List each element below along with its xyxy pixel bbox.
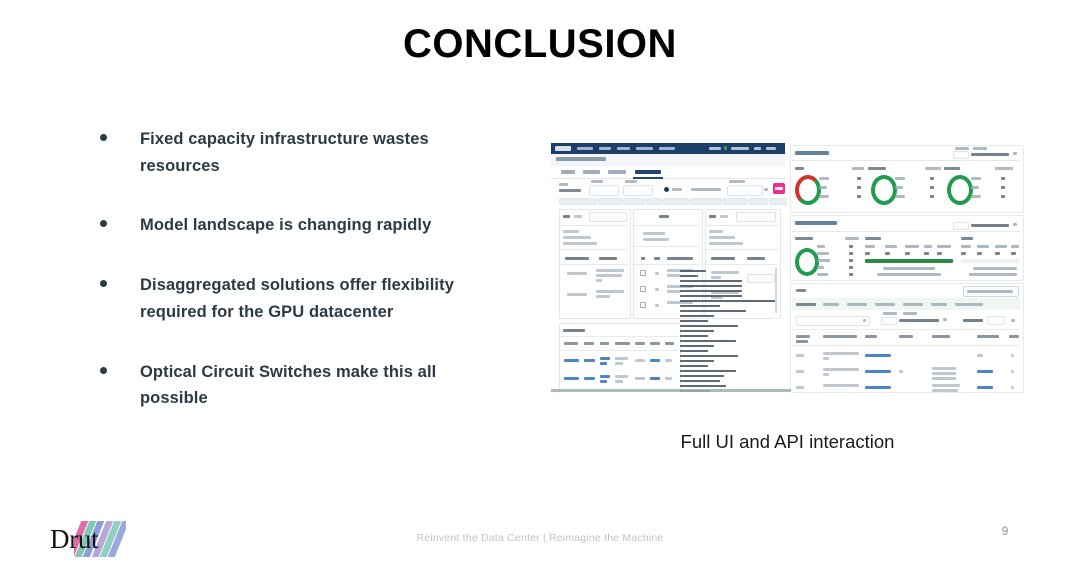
cell-text [615, 375, 628, 378]
cell-text [932, 367, 956, 370]
cell-text [932, 389, 958, 392]
row-checkbox[interactable] [640, 286, 646, 292]
usage-caption [969, 273, 1017, 276]
cell-text [596, 279, 602, 282]
screenshot-caption: Full UI and API interaction [551, 431, 1024, 453]
product-screenshot-collage [551, 143, 1024, 393]
cell-text [665, 359, 672, 362]
filter-chip[interactable] [723, 198, 747, 205]
cell-text [615, 362, 623, 365]
cell-text [655, 304, 659, 307]
date-range-label [729, 180, 745, 183]
cell-text [596, 295, 610, 298]
select-field[interactable] [589, 185, 619, 196]
cell-link[interactable] [600, 362, 607, 365]
legend-count [849, 252, 853, 255]
filter-chip[interactable] [623, 198, 645, 205]
nav-menu-item[interactable] [636, 147, 653, 150]
bullet-text: Model landscape is changing rapidly [140, 212, 431, 239]
refresh-icon[interactable] [1013, 152, 1017, 155]
legend-critical [895, 186, 903, 189]
legend-healthy-count [930, 177, 934, 180]
gauge-group-label [795, 237, 813, 240]
legend-healthy-count [1001, 177, 1005, 180]
resource-state-gauge [795, 248, 819, 276]
table-title [563, 329, 585, 332]
slide-canvas: CONCLUSION Fixed capacity infrastructure… [0, 0, 1080, 568]
time-label [973, 147, 987, 150]
computes-gauge [947, 175, 973, 205]
timezone-select[interactable] [953, 222, 969, 230]
cell-link[interactable] [865, 370, 891, 373]
tab-hybrid[interactable] [955, 303, 983, 306]
divider [706, 264, 778, 265]
col-header [641, 257, 645, 260]
col-header [565, 257, 589, 260]
app-logo-icon [555, 146, 571, 151]
date-range-field[interactable] [727, 185, 763, 196]
refresh-icon[interactable] [1013, 223, 1017, 226]
card-label [709, 215, 716, 218]
cell-text [567, 272, 587, 275]
timezone-select[interactable] [953, 151, 969, 159]
divider [634, 246, 700, 247]
metric-value [937, 252, 942, 255]
timestamp-value [971, 153, 1009, 156]
card-row-text [643, 238, 669, 241]
tab-overview[interactable] [561, 170, 575, 174]
gauge-group-total [995, 167, 1013, 170]
bullet-item: Optical Circuit Switches make this all p… [100, 359, 500, 412]
filter-chip-row [559, 198, 785, 205]
tab-fpga[interactable] [875, 303, 895, 306]
card-search-input[interactable] [589, 212, 627, 222]
tab-network[interactable] [847, 303, 867, 306]
divider [792, 231, 1020, 232]
cell-link[interactable] [564, 377, 579, 380]
col-header[interactable] [564, 342, 578, 345]
cell-text [796, 370, 804, 373]
legend-warning [819, 195, 829, 198]
cell-text [932, 384, 960, 387]
gpu-group-label [961, 237, 973, 240]
timezone-label [883, 312, 897, 315]
legend-critical-count [1001, 186, 1005, 189]
card-label [659, 215, 669, 218]
nav-account-icon[interactable] [766, 147, 776, 150]
legend-healthy-count [857, 177, 861, 180]
col-header [667, 257, 693, 260]
bullet-text: Optical Circuit Switches make this all p… [140, 359, 500, 412]
cell-text [977, 354, 983, 357]
col-header[interactable] [600, 342, 609, 345]
logo-wordmark: Drut [50, 524, 98, 555]
cell-link[interactable] [584, 359, 595, 362]
cell-text [932, 377, 956, 380]
card-select[interactable] [720, 215, 728, 218]
cell-text [1011, 386, 1014, 389]
nav-settings-icon[interactable] [754, 147, 761, 150]
bullet-dot-icon [100, 220, 107, 227]
col-header-make[interactable] [865, 335, 877, 338]
divider [634, 264, 700, 265]
nav-user-item[interactable] [731, 147, 749, 150]
bullet-text: Fixed capacity infrastructure wastes res… [140, 126, 500, 179]
rows-per-page-select[interactable] [987, 316, 1005, 325]
select-label [625, 180, 637, 183]
cell-link[interactable] [584, 377, 595, 380]
bullet-dot-icon [100, 280, 107, 287]
legend-item [817, 273, 828, 276]
cell-text [667, 290, 681, 293]
table-search-input[interactable] [796, 316, 870, 326]
bullet-list: Fixed capacity infrastructure wastes res… [100, 126, 500, 438]
tab-ports[interactable] [931, 303, 947, 306]
legend-critical [819, 186, 827, 189]
cell-text [635, 359, 645, 362]
legend-item [817, 266, 824, 269]
col-header[interactable] [584, 342, 594, 345]
col-header-resource-2[interactable] [796, 340, 808, 343]
cell-text [823, 384, 859, 387]
cell-text [567, 293, 587, 296]
bullet-text: Disaggregated solutions offer flexibilit… [140, 272, 500, 325]
legend-healthy [971, 177, 981, 180]
bullet-item: Disaggregated solutions offer flexibilit… [100, 272, 500, 325]
usage-caption [973, 267, 1017, 270]
col-header-count[interactable] [1009, 335, 1019, 338]
divider [560, 225, 628, 226]
refresh-icon[interactable] [764, 188, 768, 191]
card-row-text [709, 236, 735, 239]
metric-value [865, 252, 870, 255]
col-header[interactable] [665, 342, 674, 345]
tab-gpus[interactable] [823, 303, 839, 306]
cell-text [1011, 370, 1014, 373]
select-field[interactable] [623, 185, 653, 196]
col-header[interactable] [615, 342, 630, 345]
cell-text [796, 386, 804, 389]
filter-chip-text [691, 188, 721, 191]
card-row-text [563, 236, 591, 239]
divider [560, 336, 678, 337]
nav-status-item[interactable] [709, 147, 721, 150]
legend-warning-count [857, 195, 861, 198]
legend-critical-count [930, 186, 934, 189]
col-header-name[interactable] [823, 335, 857, 338]
divider [560, 249, 628, 250]
card-search-input[interactable] [736, 212, 776, 222]
card-row-text [563, 230, 579, 233]
metric-value [885, 252, 890, 255]
cell-text [1011, 354, 1014, 357]
metric-value [977, 252, 982, 255]
cell-text [823, 352, 859, 355]
cell-text [665, 377, 672, 380]
metric-label [885, 245, 897, 248]
gpu-usage-bar [961, 259, 1019, 263]
usage-caption [877, 273, 941, 276]
search-icon[interactable] [863, 319, 866, 322]
compute-group-label [865, 237, 881, 240]
card-row-text [709, 242, 743, 245]
legend-item [817, 252, 829, 255]
dashboard-stack [787, 143, 1024, 393]
cell-link[interactable] [600, 380, 607, 383]
col-header [747, 257, 765, 260]
col-header [599, 257, 617, 260]
filter-chip[interactable] [559, 198, 597, 205]
cell-text [655, 272, 659, 275]
cell-text [615, 357, 628, 360]
bullet-item: Model landscape is changing rapidly [100, 212, 500, 239]
legend-warning-count [1001, 195, 1005, 198]
col-header [711, 257, 735, 260]
card-row-text [563, 242, 597, 245]
table-heading [796, 289, 806, 292]
api-json-output [680, 270, 777, 386]
cell-link[interactable] [977, 370, 993, 373]
metric-value [961, 252, 966, 255]
divider [634, 225, 700, 226]
gauge-group-total [845, 237, 859, 240]
tab-storage[interactable] [903, 303, 923, 306]
bullet-dot-icon [100, 134, 107, 141]
cell-link[interactable] [865, 386, 891, 389]
bullet-item: Fixed capacity infrastructure wastes res… [100, 126, 500, 179]
select-label [591, 180, 603, 183]
tab-active-underline [633, 177, 663, 179]
drut-logo: Drut [50, 521, 130, 557]
cell-text [635, 377, 645, 380]
cell-text [596, 290, 624, 293]
filter-label [559, 183, 568, 186]
cell-text [823, 357, 829, 360]
gauge-group-label [944, 167, 960, 170]
cell-text [615, 380, 623, 383]
metric-value [995, 252, 1000, 255]
legend-item [817, 245, 825, 248]
divider [560, 264, 628, 265]
cell-text [932, 372, 956, 375]
metric-label [924, 245, 932, 248]
tab-port-connections[interactable] [635, 170, 661, 174]
primary-action-button[interactable] [773, 183, 785, 194]
view-toggle-label [672, 188, 682, 191]
bullet-dot-icon [100, 367, 107, 374]
row-checkbox[interactable] [640, 270, 646, 276]
filter-chip[interactable] [598, 198, 622, 205]
legend-warning-count [930, 195, 934, 198]
refresh-icon[interactable] [943, 318, 947, 321]
legend-warning [895, 195, 905, 198]
gauge-group-label [868, 167, 886, 170]
nav-menu-item[interactable] [617, 147, 630, 150]
pagination-range [963, 319, 983, 322]
divider [792, 329, 1020, 330]
page-number: 9 [990, 524, 1020, 538]
col-header-description[interactable] [932, 335, 950, 338]
dashboard-heading [795, 151, 829, 155]
metric-label [961, 245, 971, 248]
data-path-gauge [795, 175, 821, 205]
cell-link[interactable] [600, 357, 610, 360]
legend-count [849, 266, 853, 269]
card-select[interactable] [574, 215, 582, 218]
row-checkbox[interactable] [640, 302, 646, 308]
legend-warning [971, 195, 981, 198]
legend-healthy [819, 177, 829, 180]
legend-count [849, 245, 853, 248]
tab-manage[interactable] [608, 170, 626, 174]
metric-value [924, 252, 929, 255]
cell-text [596, 269, 624, 272]
divider [792, 160, 1020, 161]
legend-count [849, 273, 853, 276]
cell-text [796, 354, 804, 357]
card-row-text [709, 230, 723, 233]
next-page-icon[interactable] [1011, 319, 1015, 322]
cell-text [596, 274, 622, 277]
view-toggle-icon [664, 187, 669, 192]
divider [706, 249, 778, 250]
usage-caption [883, 267, 935, 270]
cell-text [667, 274, 681, 277]
col-header-resource[interactable] [796, 335, 810, 338]
divider [706, 225, 778, 226]
col-header [654, 257, 660, 260]
collage-accent-bar [551, 389, 791, 392]
cell-link[interactable] [650, 359, 660, 362]
filter-chip[interactable] [663, 198, 689, 205]
cell-link[interactable] [865, 354, 891, 357]
cell-text [899, 370, 903, 373]
card-row-text [643, 232, 665, 235]
legend-critical-count [857, 186, 861, 189]
gauge-group-total [852, 167, 864, 170]
page-title: CONCLUSION [0, 22, 1080, 67]
gauge-group-label [795, 167, 804, 170]
metric-label [977, 245, 989, 248]
compute-usage-bar [865, 259, 953, 263]
tab-computes[interactable] [796, 303, 816, 306]
dashboard-heading [795, 221, 837, 225]
cell-link[interactable] [650, 377, 660, 380]
filter-value [559, 189, 581, 192]
filter-chip[interactable] [748, 198, 768, 205]
resource-block-gauge [871, 175, 897, 205]
nav-health-indicator [724, 146, 727, 150]
metric-label [865, 245, 875, 248]
cell-link[interactable] [600, 375, 610, 378]
col-header[interactable] [635, 342, 645, 345]
timezone-select[interactable] [881, 317, 897, 325]
col-header-capacity[interactable] [899, 335, 913, 338]
col-header-node-machine[interactable] [977, 335, 999, 338]
cell-text [823, 373, 829, 376]
footer-tagline: Reinvent the Data Center | Reimagine the… [0, 532, 1080, 544]
tab-topology[interactable] [583, 170, 600, 174]
filter-chip[interactable] [646, 198, 662, 205]
metric-label [905, 245, 919, 248]
card-label [563, 215, 570, 218]
nav-menu-item[interactable] [599, 147, 611, 150]
metric-label [1011, 245, 1019, 248]
date-label [955, 147, 969, 150]
nav-menu-item[interactable] [577, 147, 593, 150]
cell-link[interactable] [977, 386, 993, 389]
gauge-group-total [925, 167, 941, 170]
cell-text [655, 288, 659, 291]
legend-count [849, 259, 853, 262]
col-header[interactable] [650, 342, 660, 345]
divider [560, 350, 678, 351]
updated-label [903, 312, 917, 315]
page-heading-text [556, 157, 606, 161]
legend-healthy [895, 177, 905, 180]
nav-menu-item[interactable] [659, 147, 675, 150]
metric-value [1011, 252, 1016, 255]
metric-label [937, 245, 951, 248]
cell-text [823, 368, 859, 371]
legend-critical [971, 186, 979, 189]
cell-link[interactable] [564, 359, 579, 362]
legend-item [817, 259, 830, 262]
metric-label [995, 245, 1007, 248]
filter-chip[interactable] [690, 198, 722, 205]
button-label [967, 290, 1013, 293]
timestamp-value [899, 319, 939, 322]
metric-value [905, 252, 910, 255]
divider [792, 345, 1020, 346]
timestamp-value [971, 224, 1009, 227]
